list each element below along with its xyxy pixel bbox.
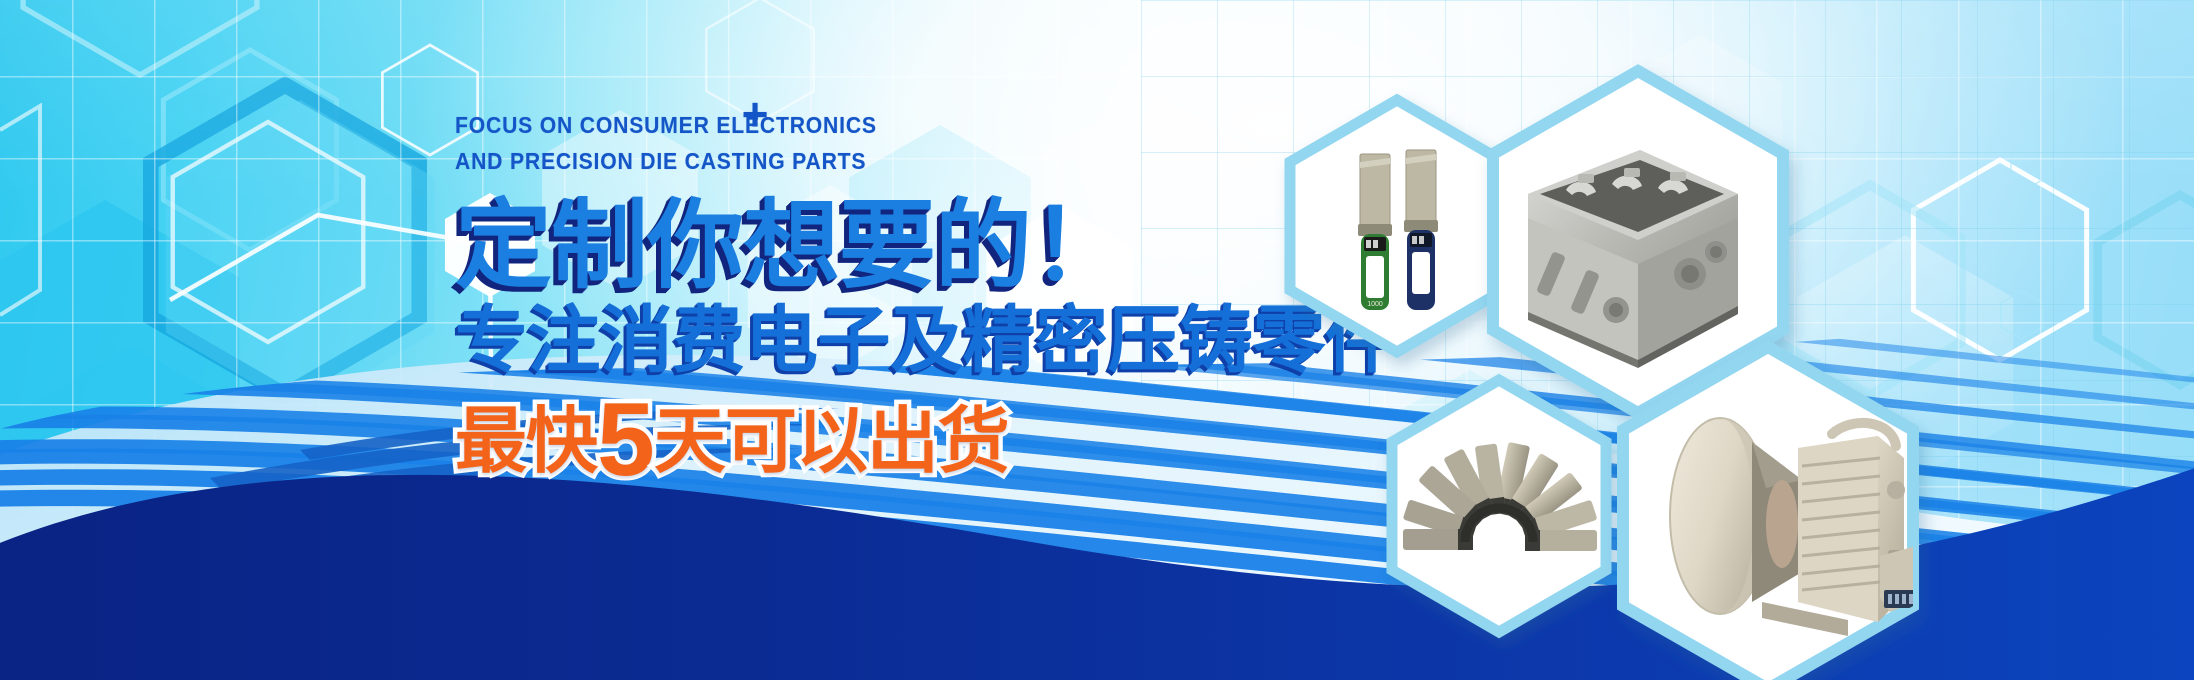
promo-days-number: 5 <box>597 382 654 498</box>
hexagon-frame <box>1290 100 1504 352</box>
eyebrow-line-1: FOCUS ON CONSUMER ELECTRONICS <box>455 108 1301 144</box>
plus-icon: + <box>742 91 770 137</box>
promo-shipping-text: 最快5天可以出货 <box>455 394 1395 488</box>
headline-copy-block: FOCUS ON CONSUMER ELECTRONICS AND PRECIS… <box>455 108 1395 488</box>
headline-main: 定制你想要的！ <box>455 195 1395 298</box>
headline-sub: 专注消费电子及精密压铸零件 <box>455 300 1395 382</box>
product-hexagon-satellite-antenna-unit <box>1608 338 1928 680</box>
promo-suffix: 天可以出货 <box>654 402 1009 482</box>
eyebrow-line-2: AND PRECISION DIE CASTING PARTS <box>455 144 1301 180</box>
promotional-banner: FOCUS ON CONSUMER ELECTRONICS AND PRECIS… <box>0 0 2194 680</box>
product-hexagon-die-cast-connector-fan <box>1380 372 1618 640</box>
svg-text:1000: 1000 <box>1367 301 1383 308</box>
eyebrow-tagline: FOCUS ON CONSUMER ELECTRONICS AND PRECIS… <box>455 108 1301 179</box>
promo-prefix: 最快 <box>455 402 597 482</box>
